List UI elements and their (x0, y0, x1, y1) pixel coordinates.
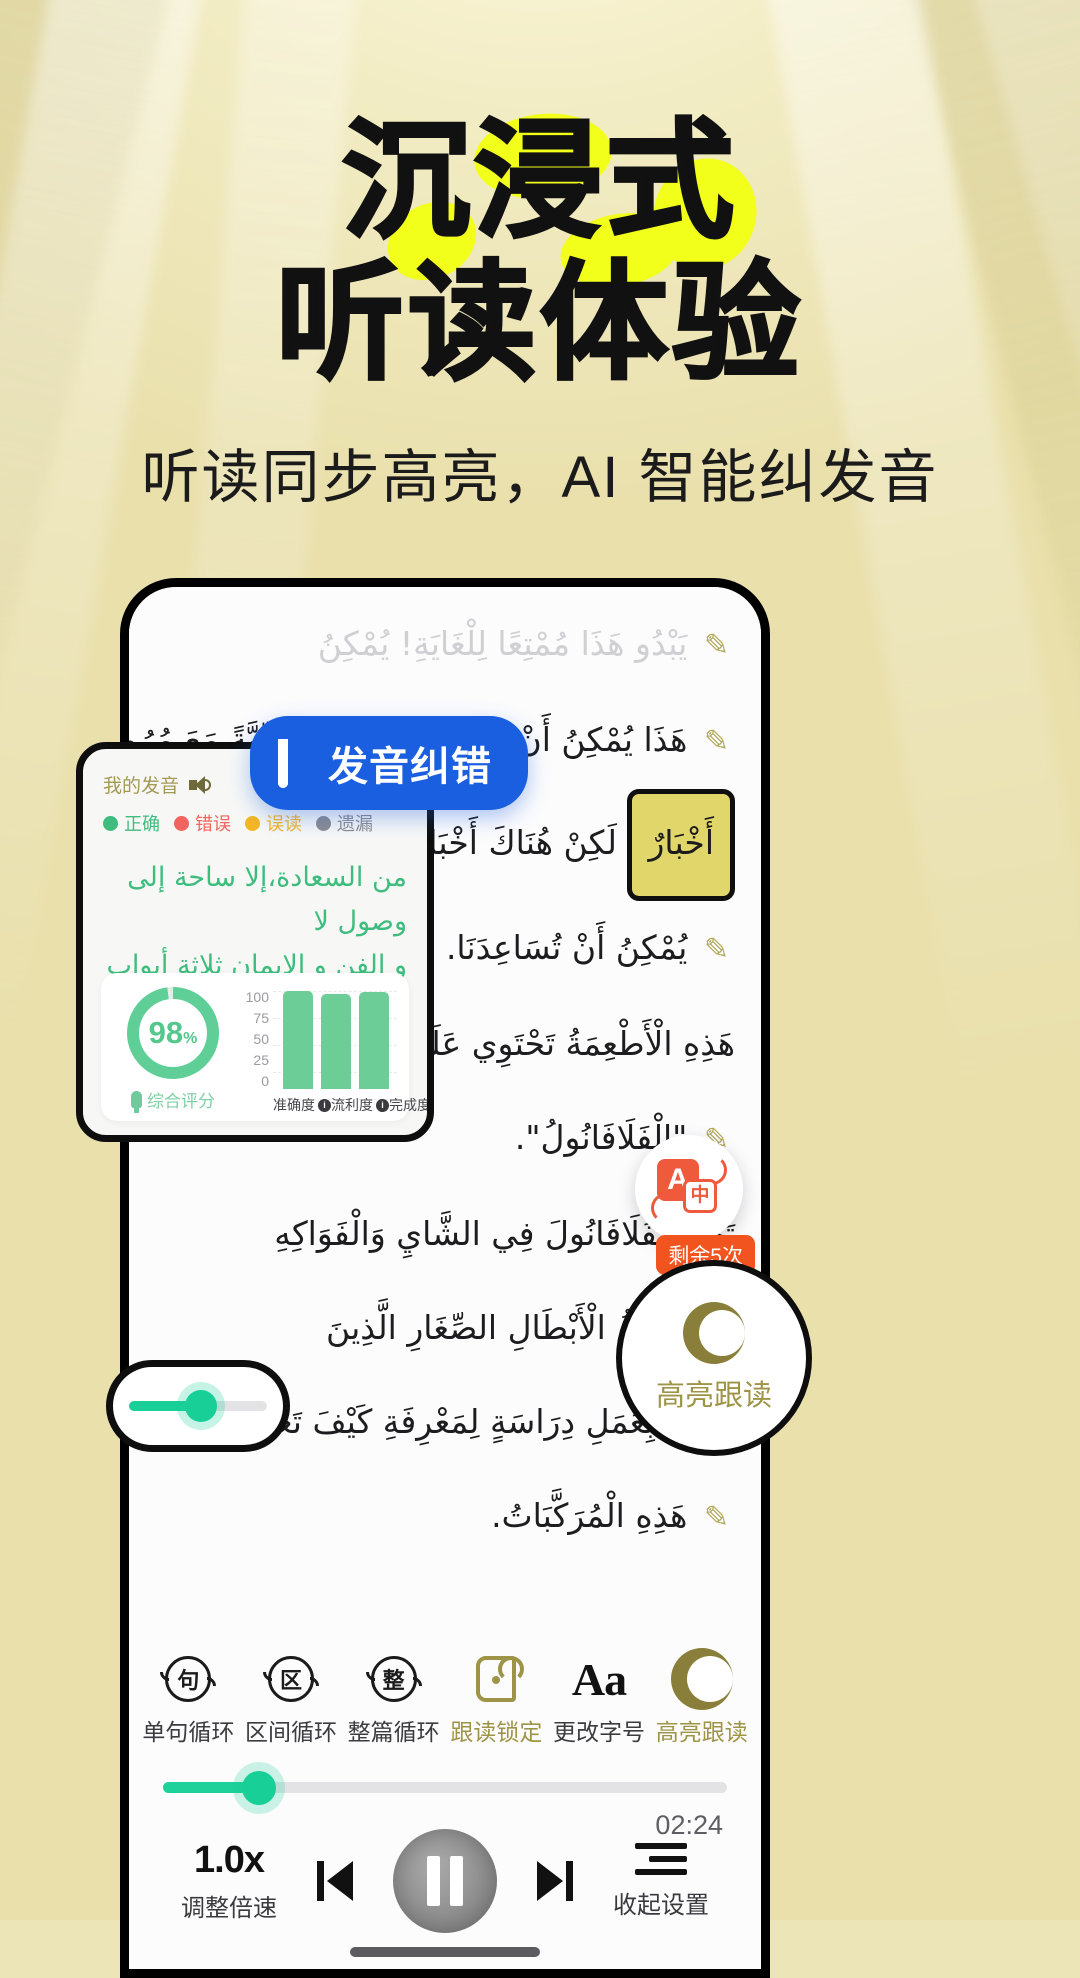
reader-line[interactable]: ✎ هَذِهِ الْمُرَكَّبَاتُ. (155, 1469, 735, 1565)
tool-highlight-follow[interactable]: 高亮跟读 (650, 1654, 753, 1747)
font-size-icon: Aa (572, 1654, 626, 1704)
mic-icon (131, 1091, 142, 1108)
skip-next-icon[interactable] (537, 1861, 573, 1901)
chart-bar (283, 991, 313, 1089)
reader-tool-strip: 句 单句循环 区 区间循环 整 整篇循环 跟读锁定 (129, 1654, 761, 1747)
pause-bar (450, 1856, 463, 1906)
prev-bar (317, 1861, 324, 1901)
reader-line-text: هَذِهِ الْمُرَكَّبَاتُ. (491, 1496, 687, 1535)
reader-line-text: يُمْكِنُ أَنْ تُسَاعِدَنَا. (446, 928, 687, 967)
user-text-line: من السعادة،إلا ساحة إلى وصول لا (103, 856, 407, 944)
callout-slider-track[interactable] (129, 1401, 267, 1411)
x-label-text: 完成度 (389, 1095, 431, 1115)
skip-previous-icon[interactable] (317, 1861, 353, 1901)
pen-icon: ✎ (698, 724, 735, 759)
mic-arc (278, 739, 288, 788)
headline-block: 沉浸式 听读体验 (0, 118, 1080, 388)
tool-label: 区间循环 (245, 1713, 337, 1747)
score-bar-chart: 100 75 50 25 0 准确度 (233, 983, 397, 1115)
legend-dot (174, 816, 189, 831)
score-value-wrap: 98% (149, 1015, 198, 1051)
translate-letter-zh: 中 (683, 1179, 717, 1213)
tool-font-size[interactable]: Aa 更改字号 (548, 1654, 651, 1747)
tool-label: 更改字号 (553, 1713, 645, 1747)
next-triangle (537, 1861, 563, 1901)
lock-glyph (476, 1656, 516, 1702)
callout-slider-knob[interactable] (185, 1390, 217, 1422)
reader-line[interactable]: ✎ يَبْدُو هَذَا مُمْتِعًا لِلْغَايَةِ! ي… (155, 597, 735, 693)
legend-dot (316, 816, 331, 831)
pen-icon: ✎ (698, 628, 735, 663)
pause-icon[interactable] (393, 1829, 497, 1933)
headline-line-1-text: 沉浸式 (342, 110, 738, 253)
pronunciation-correction-button[interactable]: 发音纠错 (250, 716, 528, 810)
overall-score: 98% 综合评分 (113, 987, 233, 1112)
tool-label: 高亮跟读 (656, 1713, 748, 1747)
highlight-follow-label: 高亮跟读 (656, 1372, 772, 1414)
y-tick: 0 (239, 1073, 269, 1089)
sentence-loop-icon: 句 (165, 1654, 211, 1704)
region-loop-icon: 区 (268, 1654, 314, 1704)
collapse-settings-button[interactable]: 收起设置 (613, 1843, 709, 1920)
score-ring: 98% (127, 987, 219, 1079)
tool-sentence-loop[interactable]: 句 单句循环 (137, 1654, 240, 1747)
settings-label: 收起设置 (613, 1885, 709, 1920)
score-unit: % (183, 1030, 197, 1047)
speaker-wave (204, 779, 211, 791)
card-title: 我的发音 (103, 771, 179, 798)
headline-line-1: 沉浸式 (324, 118, 756, 246)
pen-icon: ✎ (698, 1500, 735, 1535)
moon-highlight-icon (683, 1302, 745, 1364)
tool-label: 整篇循环 (348, 1713, 440, 1747)
x-label-fluency: 流利度 i (331, 1095, 389, 1115)
chart-bar (321, 994, 351, 1089)
player-controls: 1.0x 调整倍速 收起设置 (129, 1829, 761, 1933)
highlight-follow-callout[interactable]: 高亮跟读 (616, 1260, 812, 1456)
sentence-loop-glyph: 句 (165, 1656, 211, 1702)
y-tick: 50 (239, 1031, 269, 1047)
legend-item-wrong: 错误 (174, 810, 231, 836)
legend-item-omitted: 遗漏 (316, 810, 373, 836)
info-icon[interactable]: i (376, 1099, 389, 1112)
progress-knob[interactable] (242, 1771, 276, 1805)
legend-item-misread: 误读 (245, 810, 302, 836)
legend-dot (103, 816, 118, 831)
tool-follow-lock[interactable]: 跟读锁定 (445, 1654, 548, 1747)
progress-track[interactable] (163, 1782, 727, 1793)
mic-icon (278, 739, 312, 787)
font-size-glyph: Aa (572, 1653, 626, 1706)
chart-bar (359, 992, 389, 1089)
whole-loop-icon: 整 (371, 1654, 417, 1704)
legend-label: 遗漏 (337, 810, 373, 836)
x-label-text: 准确度 (273, 1095, 315, 1115)
collapse-settings-icon (635, 1843, 687, 1875)
chart-bars (279, 989, 393, 1089)
progress-slider-callout[interactable] (106, 1360, 290, 1452)
prev-triangle (327, 1861, 353, 1901)
legend-label: 错误 (195, 810, 231, 836)
speaker-icon[interactable] (189, 776, 211, 794)
region-loop-glyph: 区 (268, 1656, 314, 1702)
legend-label: 误读 (266, 810, 302, 836)
translate-button[interactable]: A 中 (635, 1135, 743, 1243)
y-tick: 25 (239, 1052, 269, 1068)
reader-line-text: يَبْدُو هَذَا مُمْتِعًا لِلْغَايَةِ! يُم… (318, 624, 688, 663)
x-label-text: 流利度 (331, 1095, 373, 1115)
tool-label: 单句循环 (142, 1713, 234, 1747)
highlight-follow-icon (671, 1654, 733, 1704)
score-value: 98 (149, 1015, 183, 1050)
legend-dot (245, 816, 260, 831)
score-label: 综合评分 (147, 1087, 215, 1112)
moon-glyph (671, 1648, 733, 1710)
highlighted-word[interactable]: أَخْبَارٌ (627, 789, 735, 901)
chart-y-axis: 100 75 50 25 0 (239, 983, 273, 1115)
subtitle: 听读同步高亮，AI 智能纠发音 (0, 430, 1080, 514)
pronunciation-correction-label: 发音纠错 (328, 734, 492, 792)
next-bar (566, 1861, 573, 1901)
home-indicator (350, 1947, 540, 1957)
info-icon[interactable]: i (318, 1099, 331, 1112)
speed-label: 调整倍速 (181, 1888, 277, 1923)
speed-button[interactable]: 1.0x 调整倍速 (181, 1839, 277, 1923)
pen-icon: ✎ (698, 932, 735, 967)
tool-region-loop[interactable]: 区 区间循环 (240, 1654, 343, 1747)
whole-loop-glyph: 整 (371, 1656, 417, 1702)
x-label-accuracy: 准确度 i (273, 1095, 331, 1115)
speed-value: 1.0x (181, 1839, 277, 1882)
tool-whole-loop[interactable]: 整 整篇循环 (342, 1654, 445, 1747)
pause-bar (427, 1856, 440, 1906)
chart-plot-area: 准确度 i 流利度 i 完成度 i (273, 983, 397, 1115)
legend-item-correct: 正确 (103, 810, 160, 836)
follow-lock-icon (476, 1654, 516, 1704)
legend: 正确 错误 误读 遗漏 (103, 810, 407, 836)
y-tick: 75 (239, 1010, 269, 1026)
legend-label: 正确 (124, 810, 160, 836)
y-tick: 100 (239, 989, 269, 1005)
headline-line-2: 听读体验 (0, 260, 1080, 388)
score-panel: 98% 综合评分 100 75 50 25 0 (101, 973, 409, 1121)
chart-x-labels: 准确度 i 流利度 i 完成度 i (273, 1095, 397, 1115)
score-label-row: 综合评分 (113, 1087, 233, 1112)
translate-icon: A 中 (657, 1159, 721, 1219)
x-label-completeness: 完成度 i (389, 1095, 434, 1115)
playback-progress-row[interactable] (129, 1782, 761, 1793)
tool-label: 跟读锁定 (450, 1713, 542, 1747)
